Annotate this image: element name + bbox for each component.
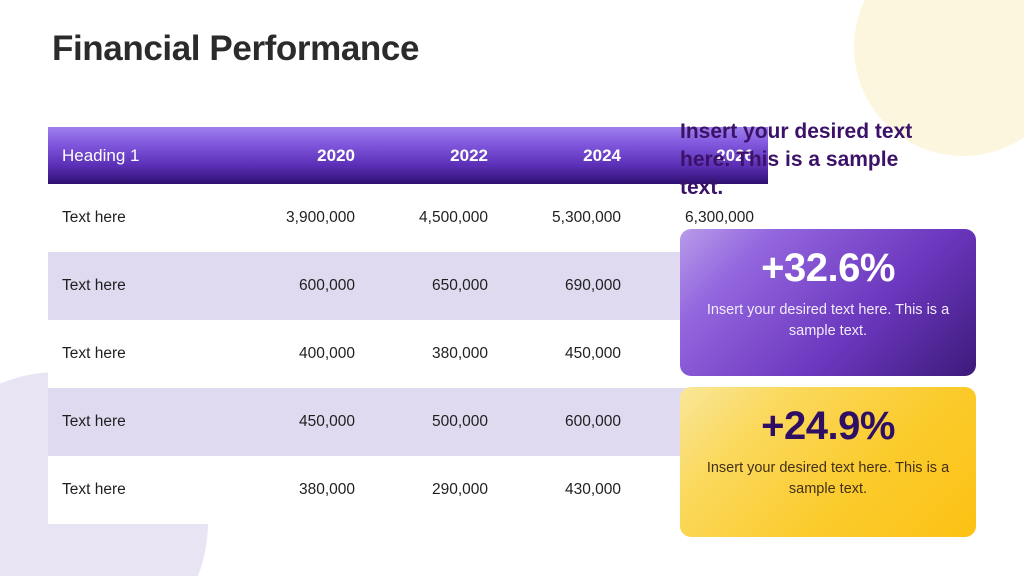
cell-value: 3,900,000 [236,184,369,252]
table-header: Heading 1 2020 2022 2024 2026 [48,127,768,184]
row-label: Text here [48,456,236,524]
table-row: Text here 400,000 380,000 450,000 370,00… [48,320,768,388]
stat-card-purple: +32.6% Insert your desired text here. Th… [680,229,976,376]
table-row: Text here 450,000 500,000 600,000 750,00… [48,388,768,456]
sidebar-heading: Insert your desired text here. This is a… [680,118,926,202]
row-label: Text here [48,184,236,252]
cell-value: 4,500,000 [369,184,502,252]
cell-value: 600,000 [502,388,635,456]
row-label: Text here [48,252,236,320]
cell-value: 5,300,000 [502,184,635,252]
cell-value: 290,000 [369,456,502,524]
table-row: Text here 600,000 650,000 690,000 780,00… [48,252,768,320]
financial-table-container: Heading 1 2020 2022 2024 2026 Text here … [48,127,628,524]
cell-value: 380,000 [236,456,369,524]
cell-value: 450,000 [502,320,635,388]
table-header-row: Heading 1 2020 2022 2024 2026 [48,127,768,184]
stat-value: +32.6% [702,247,954,290]
table-body: Text here 3,900,000 4,500,000 5,300,000 … [48,184,768,524]
cell-value: 650,000 [369,252,502,320]
cell-value: 380,000 [369,320,502,388]
cell-value: 500,000 [369,388,502,456]
stat-description: Insert your desired text here. This is a… [702,300,954,342]
stat-value: +24.9% [702,405,954,448]
sidebar-panel: Insert your desired text here. This is a… [680,118,980,224]
cell-value: 450,000 [236,388,369,456]
column-header-2024: 2024 [502,127,635,184]
table-row: Text here 380,000 290,000 430,000 475,00… [48,456,768,524]
table-row: Text here 3,900,000 4,500,000 5,300,000 … [48,184,768,252]
cell-value: 600,000 [236,252,369,320]
column-header-2022: 2022 [369,127,502,184]
page-title: Financial Performance [52,29,419,69]
column-header-2020: 2020 [236,127,369,184]
financial-table: Heading 1 2020 2022 2024 2026 Text here … [48,127,768,524]
row-label: Text here [48,388,236,456]
cell-value: 430,000 [502,456,635,524]
cell-value: 690,000 [502,252,635,320]
column-header-heading-1: Heading 1 [48,127,236,184]
row-label: Text here [48,320,236,388]
stat-description: Insert your desired text here. This is a… [702,458,954,500]
cell-value: 400,000 [236,320,369,388]
stat-card-yellow: +24.9% Insert your desired text here. Th… [680,387,976,537]
slide-canvas: Financial Performance Heading 1 2020 202… [0,0,1024,576]
